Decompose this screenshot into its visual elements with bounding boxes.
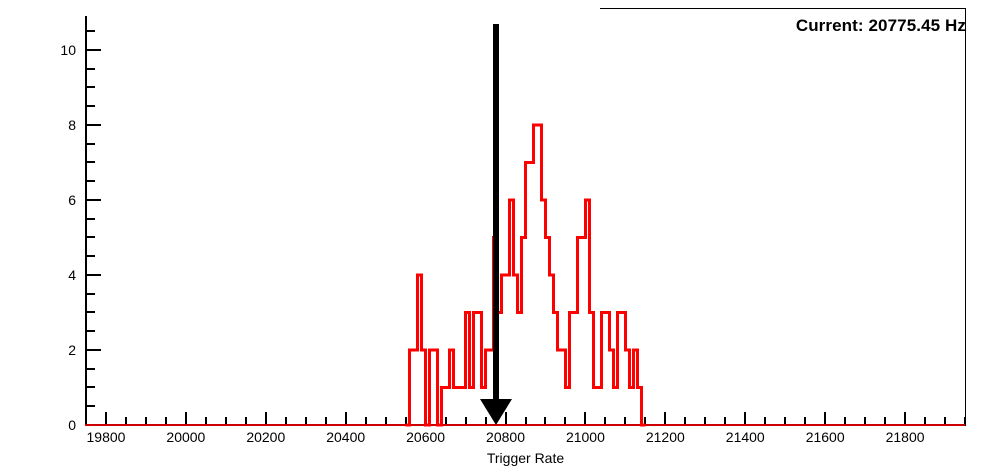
histogram-outline [406, 125, 646, 425]
marker-arrowhead [480, 399, 512, 425]
histogram-canvas: Current: 20775.45 Hz 0246810 19800200002… [0, 0, 996, 472]
x-axis-title: Trigger Rate [487, 450, 564, 466]
marker-stem [493, 24, 499, 400]
